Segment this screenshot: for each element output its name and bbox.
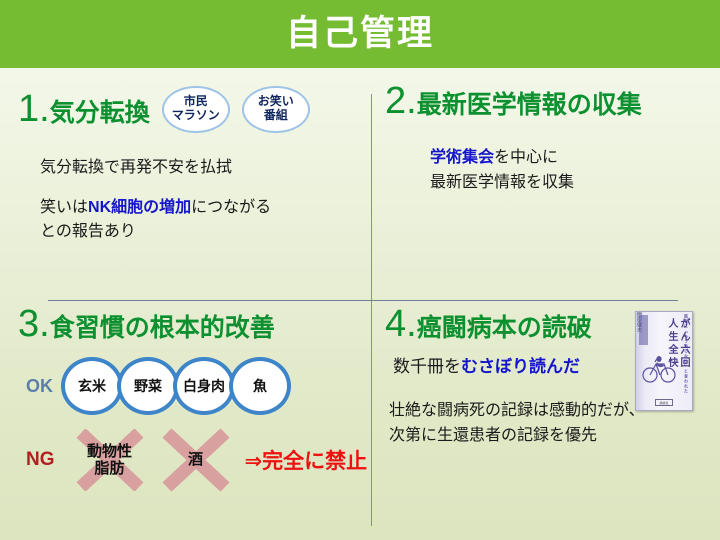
quadrant-1-body-line1: 気分転換で再発不安を払拭 [40,156,370,180]
bicycle-illustration-icon [642,352,676,384]
quadrant-1-body-line2-pre: 笑いは [40,199,88,216]
quadrant-1-body: 気分転換で再発不安を払拭 笑いはNK細胞の増加につながる との報告あり [40,156,370,244]
ng-item-animal-fat: 動物性 脂肪 [67,429,153,491]
quadrant-1-header-row: 1. 気分転換 市民 マラソン お笑い 番組 [18,82,370,136]
quadrant-2-number: 2. [385,82,417,120]
quadrant-2-heading-text: 最新医学情報の収集 [417,93,642,118]
quadrant-1-heading-text: 気分転換 [50,101,150,126]
quadrant-2-body-line1-post: を中心に [494,149,558,166]
vertical-divider [371,94,372,526]
quadrant-1-heading: 1. 気分転換 [18,90,150,128]
tag-shimin-marathon-line2: マラソン [172,109,220,123]
quadrant-4-heading-text: 癌闘病本の読破 [417,316,592,341]
tag-owarai-bangumi: お笑い 番組 [242,86,310,133]
quadrant-1-body-line2: 笑いはNK細胞の増加につながる [40,196,370,220]
ok-circle-shiromi-niku: 白身肉 [173,357,235,415]
horizontal-divider [48,300,678,301]
quadrant-2: 2. 最新医学情報の収集 学術集会を中心に 最新医学情報を収集 [385,82,715,297]
page-title: 自己管理 [286,16,434,53]
ng-label: NG [26,449,55,471]
quadrant-4: 4. 癌闘病本の読破 医者に「もう治らない」と言われた がん六回 人生全快 関原… [385,305,717,533]
ng-item-animal-fat-line1: 動物性 [87,443,132,460]
ng-item-alcohol-label: 酒 [188,451,203,468]
quadrant-3-heading-text: 食習慣の根本的改善 [50,316,275,341]
ok-circle-sakana-label: 魚 [253,376,267,396]
book-cover-image: 医者に「もう治らない」と言われた がん六回 人生全快 関原健夫 講談社 [635,311,693,411]
tag-shimin-marathon-line1: 市民 [184,95,208,109]
slide-canvas: 自己管理 1. 気分転換 市民 マラソン お笑い 番組 気分転換で再発不安を払拭… [0,0,720,540]
ok-circle-yasai: 野菜 [117,357,179,415]
ok-circle-genmai: 玄米 [61,357,123,415]
tag-owarai-bangumi-line2: 番組 [264,109,288,123]
ok-circle-genmai-label: 玄米 [78,376,106,396]
quadrant-2-heading: 2. 最新医学情報の収集 [385,82,715,120]
quadrant-4-number: 4. [385,305,417,343]
quadrant-3-number: 3. [18,305,50,343]
quadrant-3-heading: 3. 食習慣の根本的改善 [18,305,370,343]
quadrant-2-body-line2: 最新医学情報を収集 [430,171,715,196]
quadrant-2-body-line1: 学術集会を中心に [430,146,715,171]
quadrant-3: 3. 食習慣の根本的改善 OK 玄米 野菜 白身肉 魚 NG [18,305,370,533]
quadrant-1-number: 1. [18,90,50,128]
quadrant-4-heading: 4. 癌闘病本の読破 [385,305,592,343]
slide-header: 自己管理 [0,0,720,68]
book-spine-band [639,315,648,345]
ok-circle-yasai-label: 野菜 [134,376,162,396]
ban-text: ⇒完全に禁止 [245,445,368,475]
quadrant-4-body-line1-emphasis: むさぼり読んだ [461,357,580,376]
quadrant-3-ok-row: OK 玄米 野菜 白身肉 魚 [26,357,370,415]
quadrant-2-body: 学術集会を中心に 最新医学情報を収集 [430,146,715,196]
quadrant-3-ng-row: NG 動物性 脂肪 酒 ⇒完全に禁止 [26,429,370,491]
ok-label: OK [26,376,53,397]
tag-shimin-marathon: 市民 マラソン [162,86,230,133]
book-publisher: 講談社 [655,399,673,406]
quadrant-1-body-line2-emphasis: NK細胞の増加 [88,199,191,216]
quadrant-2-body-line1-emphasis: 学術集会 [430,149,494,166]
ng-item-alcohol: 酒 [153,429,239,491]
book-title-column-1: がん六回 [678,318,688,370]
ng-item-animal-fat-line2: 脂肪 [94,460,124,477]
ok-circle-shiromi-niku-label: 白身肉 [183,376,225,396]
quadrant-1: 1. 気分転換 市民 マラソン お笑い 番組 気分転換で再発不安を払拭 笑いはN… [18,82,370,297]
quadrant-4-body-line1-pre: 数千冊を [393,357,461,376]
ok-circle-sakana: 魚 [229,357,291,415]
quadrant-1-body-line2-post: につながる [191,199,271,216]
quadrant-1-body-line3: との報告あり [40,220,370,244]
tag-owarai-bangumi-line1: お笑い [258,95,294,109]
quadrant-4-body-line3: 次第に生還患者の記録を優先 [389,424,717,449]
ng-item-animal-fat-label: 動物性 脂肪 [87,443,132,478]
